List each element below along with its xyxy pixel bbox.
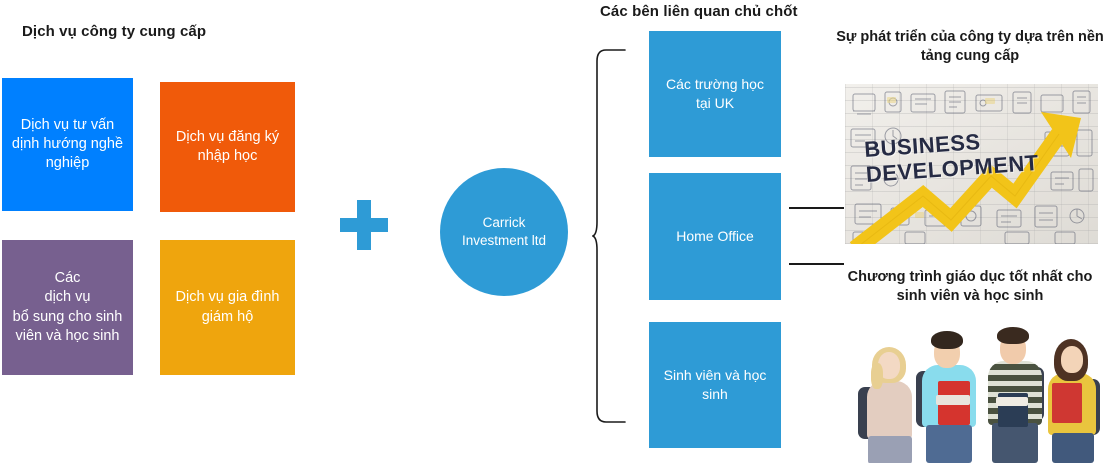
connector-line-to-education-program xyxy=(789,263,844,265)
student-figure-1 xyxy=(858,341,920,463)
outcome-caption-education-program: Chương trình giáo dục tốt nhất cho sinh … xyxy=(836,268,1104,305)
business-development-photo: BUSINESS DEVELOPMENT xyxy=(845,84,1098,244)
plus-icon-vertical-bar xyxy=(357,200,371,250)
face-icon xyxy=(1061,346,1083,373)
stakeholder-box-home-office[interactable]: Home Office xyxy=(649,173,781,300)
student-legs xyxy=(926,425,972,463)
stakeholder-box-uk-schools[interactable]: Các trường học tại UK xyxy=(649,31,781,157)
hair-icon xyxy=(997,327,1029,344)
service-box-admission-registration[interactable]: Dịch vụ đăng ký nhập học xyxy=(160,82,295,212)
student-legs xyxy=(868,436,912,463)
stakeholders-brace-icon xyxy=(592,44,626,428)
company-circle-carrick-investment[interactable]: Carrick Investment ltd xyxy=(440,168,568,296)
outcome-caption-business-development: Sự phát triển của công ty dựa trên nền t… xyxy=(836,28,1104,65)
student-figure-4 xyxy=(1042,335,1100,463)
students-group-photo xyxy=(852,318,1100,463)
stakeholders-heading: Các bên liên quan chủ chốt xyxy=(600,3,798,20)
connector-line-to-business-development xyxy=(789,207,844,209)
diagram-canvas: Dịch vụ công ty cung cấp Dịch vụ tư vấn … xyxy=(0,0,1109,463)
service-box-career-guidance[interactable]: Dịch vụ tư vấn dịnh hướng nghề nghiệp xyxy=(2,78,133,211)
book-icon xyxy=(996,397,1028,406)
book-icon xyxy=(1052,383,1082,423)
student-figure-2 xyxy=(914,329,984,463)
student-torso xyxy=(867,381,912,439)
student-legs xyxy=(992,423,1038,463)
plus-icon xyxy=(340,200,388,250)
hair-icon xyxy=(931,331,963,349)
hair-icon xyxy=(871,363,883,389)
book-icon xyxy=(936,395,970,405)
services-heading: Dịch vụ công ty cung cấp xyxy=(22,23,206,40)
stakeholder-box-students-pupils[interactable]: Sinh viên và học sinh xyxy=(649,322,781,448)
student-legs xyxy=(1052,433,1094,463)
service-box-supplementary-services[interactable]: Các dịch vụ bổ sung cho sinh viên và học… xyxy=(2,240,133,375)
service-box-guardianship[interactable]: Dịch vụ gia đình giám hộ xyxy=(160,240,295,375)
